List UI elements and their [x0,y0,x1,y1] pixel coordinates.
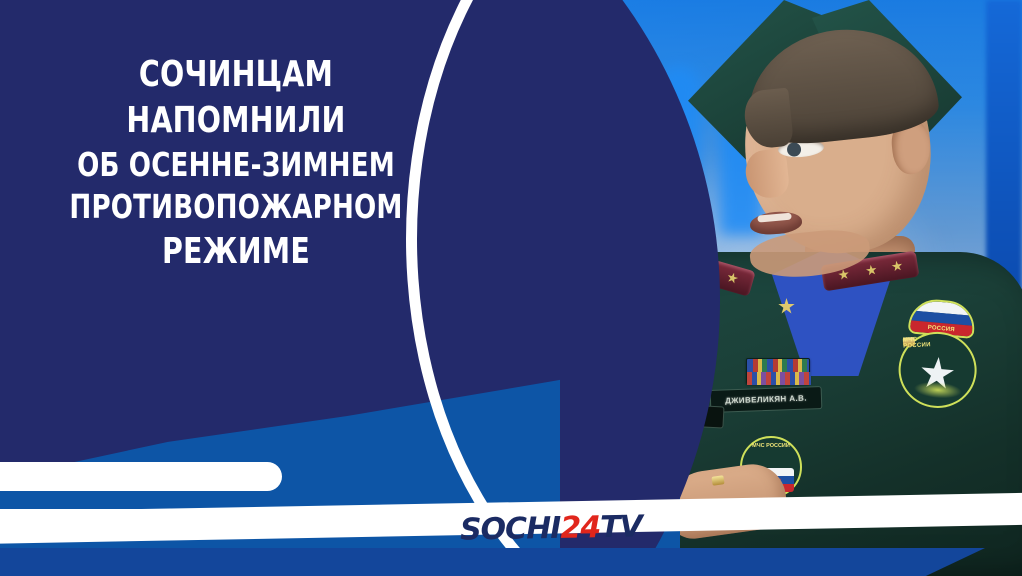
emercom-emblem-icon: МЧС РОССИИ [895,329,979,412]
chest-emblem-label: МЧС РОССИИ [742,443,800,449]
headline: СОЧИНЦАМ НАПОМНИЛИ ОБ ОСЕННЕ-ЗИМНЕМ ПРОТ… [60,52,412,275]
uniform-name-tag: ДЖИВЕЛИКЯН А.В. [710,386,823,413]
logo-part-24: 24 [560,510,600,546]
sochi24tv-logo[interactable]: SOCHI24TV [460,508,642,547]
epaulette-star [726,271,740,285]
epaulette-star [891,260,904,273]
decor-bar-upper [0,462,282,491]
emercom-star-icon [919,356,956,393]
medal-ribbon-bar [746,358,810,384]
headline-line-4: ПРОТИВОПОЖАРНОМ [60,186,412,228]
bottom-blue-bar [0,548,985,576]
wedding-ring [711,475,724,486]
headline-line-5: РЕЖИМЕ [60,229,412,275]
news-card: ДЖИВЕЛИКЯН А.В. МЧС РОССИИ РОССИЯ МЧС РО… [0,0,1022,576]
logo-part-tv: TV [600,509,642,545]
logo-part-sochi: SOCHI [460,510,561,547]
nose [744,148,791,200]
shoulder-patch: РОССИЯ МЧС РОССИИ [895,297,982,411]
headline-line-3: ОБ ОСЕННЕ-ЗИМНЕМ [60,144,412,186]
headline-line-1: СОЧИНЦАМ [60,52,412,98]
headline-line-2: НАПОМНИЛИ [60,98,412,144]
epaulette-star [865,264,878,277]
shoulder-patch-ring-label: МЧС РОССИИ [903,337,915,347]
